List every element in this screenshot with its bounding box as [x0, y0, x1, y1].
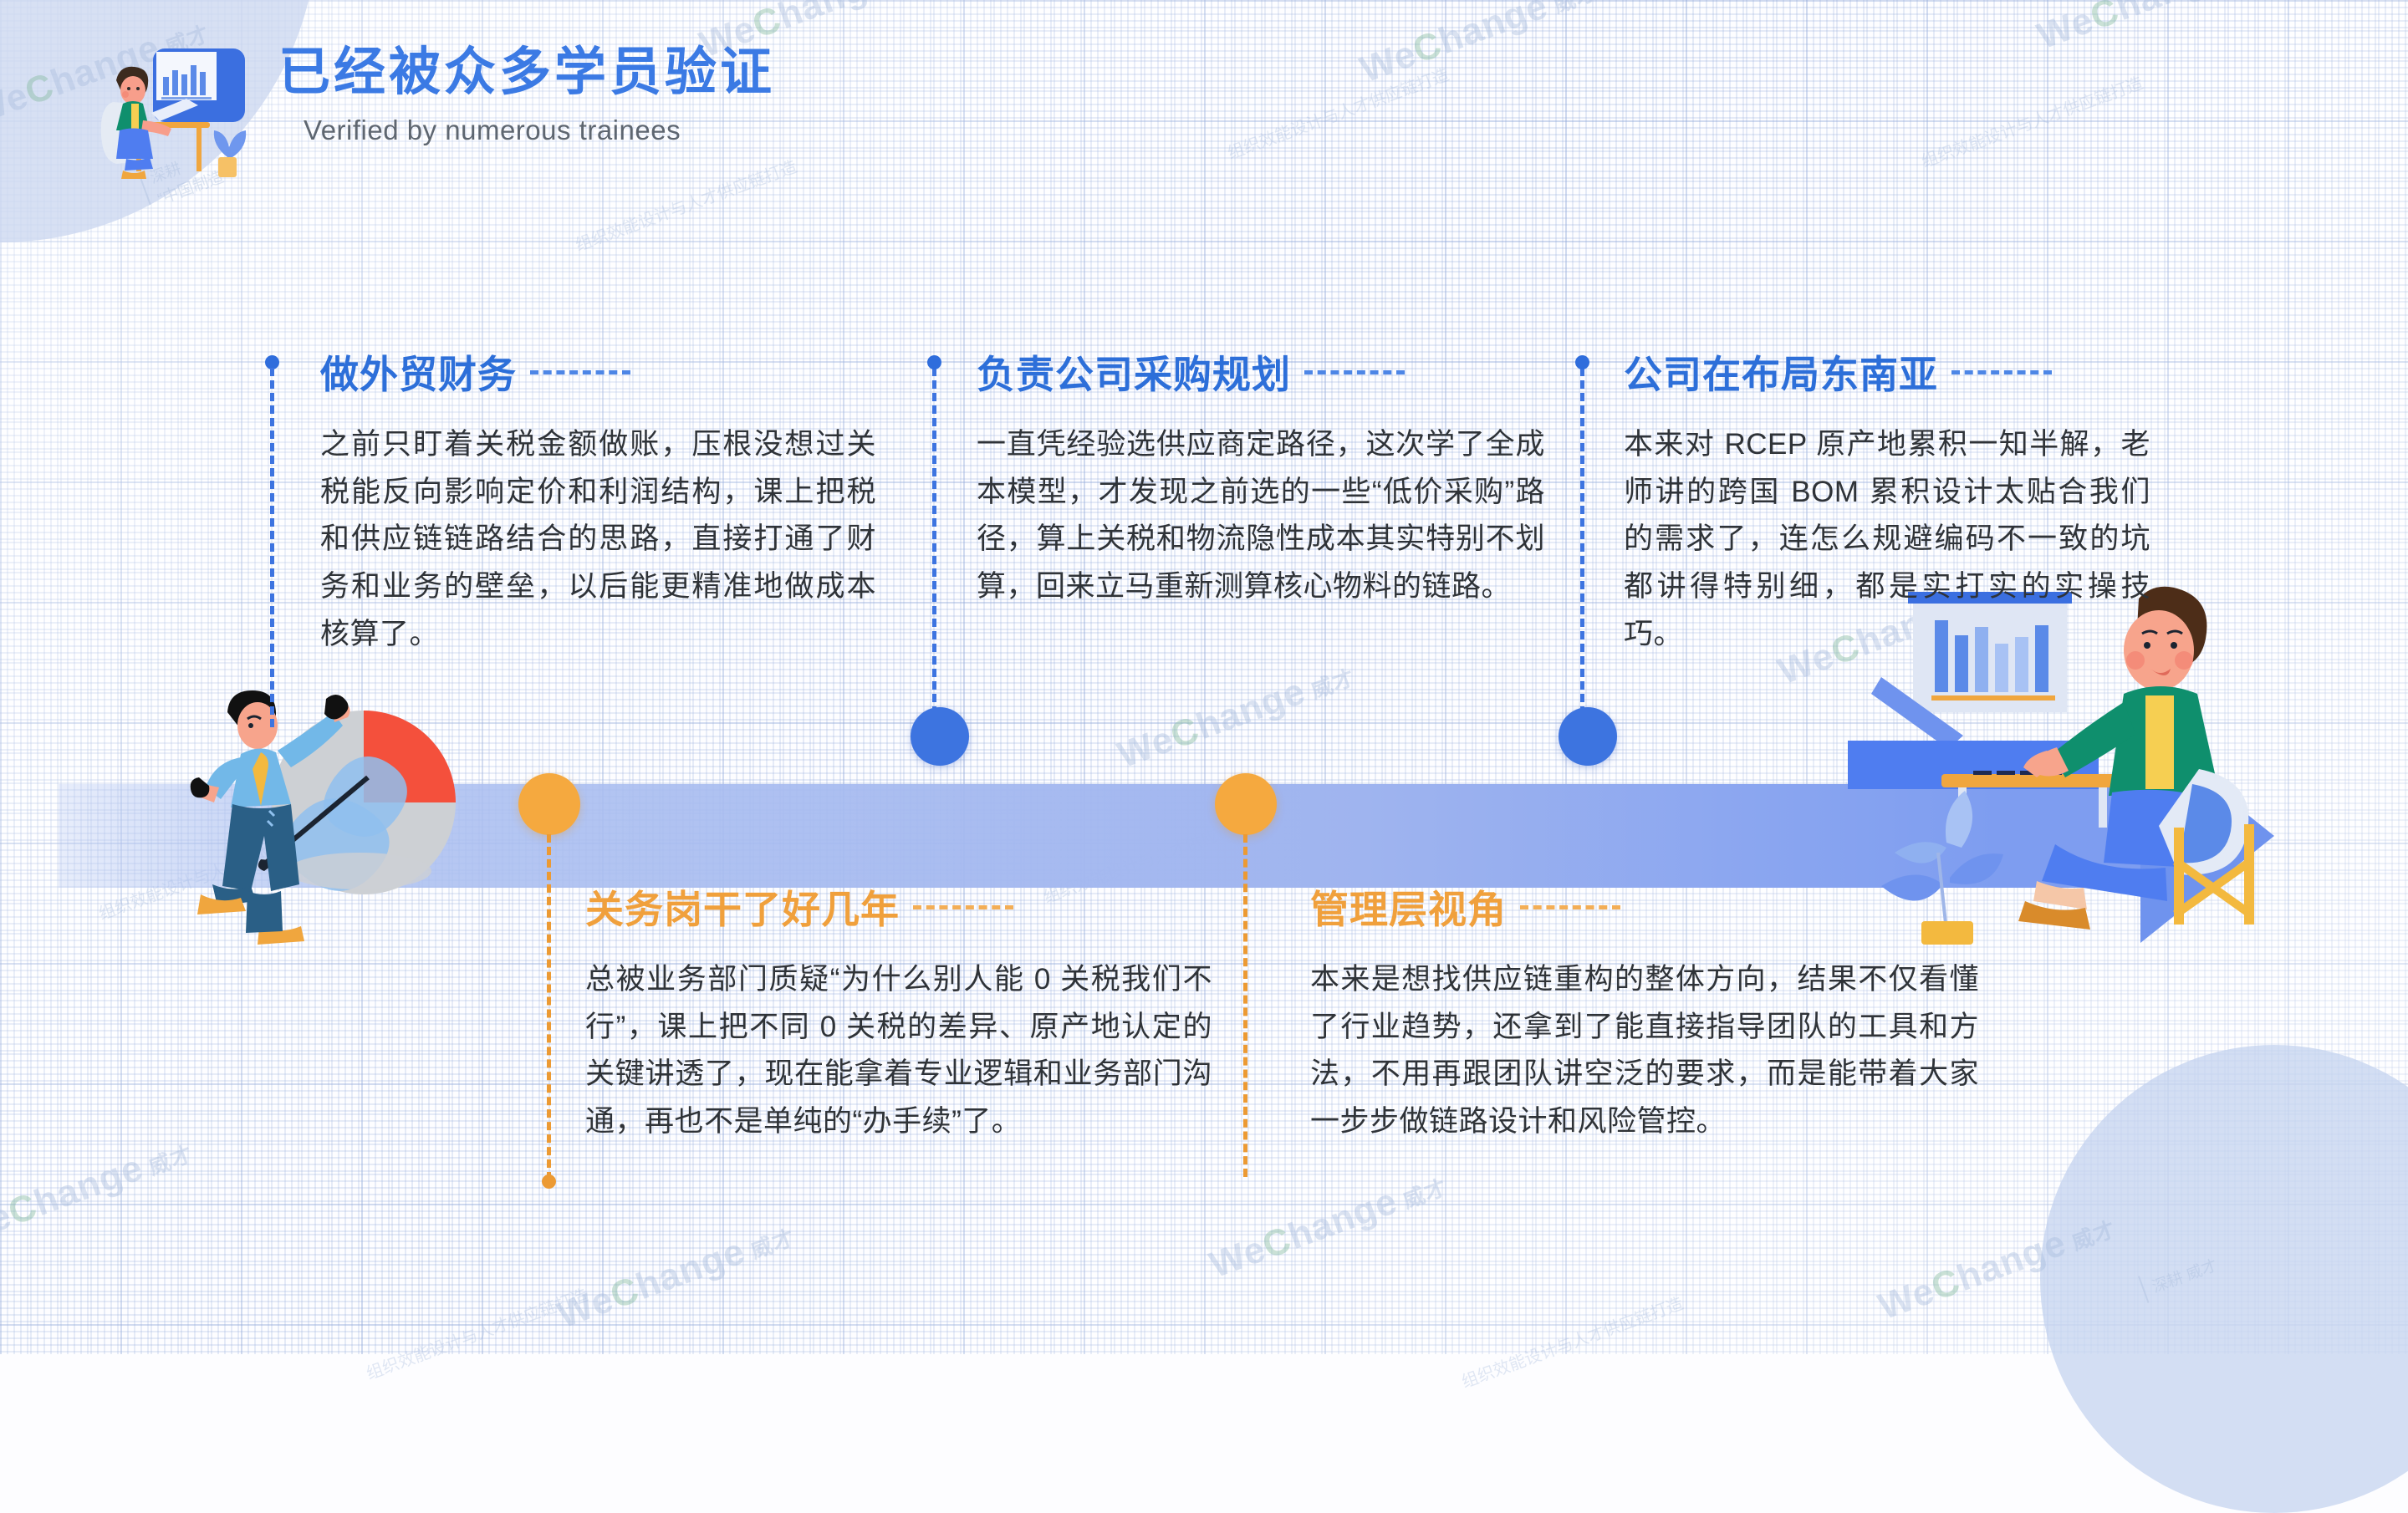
connector-line-card-1	[270, 368, 274, 727]
illustration-left-celebrating-person	[167, 644, 502, 1016]
title-dashed-rule	[1951, 370, 2052, 374]
title-dashed-rule	[530, 370, 630, 374]
connector-line-card-3	[1580, 368, 1584, 715]
title-dashed-rule	[913, 905, 1013, 909]
watermark-subline: 组织效能设计与人才供应链打造	[362, 1281, 590, 1384]
page-subtitle: Verified by numerous trainees	[304, 115, 775, 146]
page-title: 已经被众多学员验证	[278, 45, 775, 99]
card-body: 本来对 RCEP 原产地累积一知半解，老师讲的跨国 BOM 累积设计太贴合我们的…	[1624, 421, 2150, 658]
card-title-text: 负责公司采购规划	[977, 344, 1291, 400]
header-illustration	[79, 33, 263, 192]
title-dashed-rule	[1520, 905, 1620, 909]
timeline-marker-card-4	[518, 773, 580, 835]
watermark-subline: 组织效能设计与人才供应链打造	[1917, 69, 2145, 172]
watermark-brand: WeChange 威才	[1354, 0, 1602, 91]
watermark-brand: WeChange 威才	[1112, 653, 1360, 777]
card-title: 管理层视角	[1310, 879, 1979, 935]
connector-dot-card-3	[1575, 355, 1589, 369]
connector-dot-card-2	[927, 355, 941, 369]
connector-line-card-2	[932, 368, 936, 715]
testimonial-card-foreign-trade-finance[interactable]: 做外贸财务 之前只盯着关税金额做账，压根没想过关税能反向影响定价和利润结构，课上…	[320, 344, 876, 658]
connector-line-card-4	[547, 834, 551, 1180]
timeline-marker-card-5	[1215, 773, 1277, 835]
card-body: 总被业务部门质疑“为什么别人能 0 关税我们不行”，课上把不同 0 关税的差异、…	[585, 956, 1212, 1146]
watermark-subline: 组织效能设计与人才供应链打造	[1223, 61, 1451, 164]
card-title-text: 公司在布局东南亚	[1624, 344, 1938, 400]
watermark-brand: WeChange 威才	[2032, 0, 2279, 58]
testimonial-card-procurement-planning[interactable]: 负责公司采购规划 一直凭经验选供应商定路径，这次学了全成本模型，才发现之前选的一…	[977, 344, 1545, 611]
corner-decoration-bottom-right	[2040, 1045, 2408, 1513]
card-title: 负责公司采购规划	[977, 344, 1545, 400]
testimonial-card-customs-veteran[interactable]: 关务岗干了好几年 总被业务部门质疑“为什么别人能 0 关税我们不行”，课上把不同…	[585, 879, 1212, 1146]
connector-line-card-5	[1243, 834, 1247, 1177]
watermark-brand: WeChange 威才	[0, 1129, 197, 1254]
watermark-brand: WeChange 威才	[552, 1213, 799, 1337]
card-body: 本来是想找供应链重构的整体方向，结果不仅看懂了行业趋势，还拿到了能直接指导团队的…	[1310, 956, 1979, 1146]
card-title-text: 管理层视角	[1310, 879, 1507, 935]
title-dashed-rule	[1304, 370, 1405, 374]
card-title-text: 做外贸财务	[320, 344, 517, 400]
card-title: 做外贸财务	[320, 344, 876, 400]
watermark-brand: WeChange 威才	[1204, 1163, 1451, 1287]
card-body: 之前只盯着关税金额做账，压根没想过关税能反向影响定价和利润结构，课上把税和供应链…	[320, 421, 876, 658]
card-title: 公司在布局东南亚	[1624, 344, 2150, 400]
page-header: 已经被众多学员验证 Verified by numerous trainees	[79, 33, 775, 192]
card-title: 关务岗干了好几年	[585, 879, 1212, 935]
testimonial-card-southeast-asia[interactable]: 公司在布局东南亚 本来对 RCEP 原产地累积一知半解，老师讲的跨国 BOM 累…	[1624, 344, 2150, 658]
card-title-text: 关务岗干了好几年	[585, 879, 900, 935]
watermark-subline: 组织效能设计与人才供应链打造	[1457, 1290, 1686, 1393]
timeline-marker-card-2	[911, 707, 969, 766]
connector-dot-card-4	[542, 1174, 556, 1189]
testimonial-card-management-view[interactable]: 管理层视角 本来是想找供应链重构的整体方向，结果不仅看懂了行业趋势，还拿到了能直…	[1310, 879, 1979, 1146]
timeline-marker-card-3	[1559, 707, 1617, 766]
card-body: 一直凭经验选供应商定路径，这次学了全成本模型，才发现之前选的一些“低价采购”路径…	[977, 421, 1545, 611]
